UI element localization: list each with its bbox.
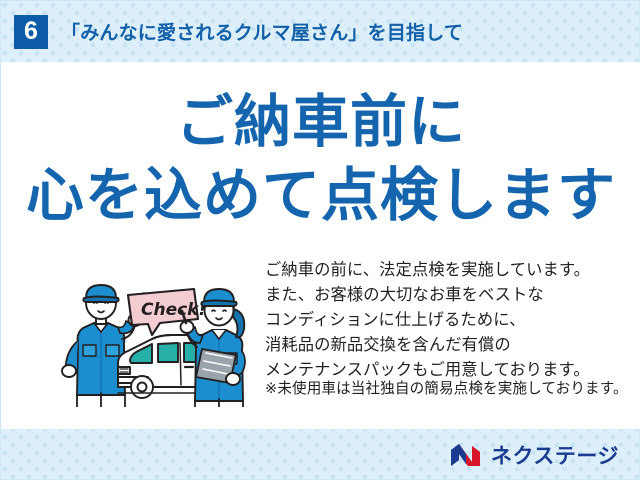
header-title: 「みんなに愛されるクルマ屋さん」を目指して: [61, 18, 463, 45]
header-band: 6 「みんなに愛されるクルマ屋さん」を目指して: [1, 1, 640, 62]
section-number-badge: 6: [14, 15, 48, 49]
headline-line-1: ご納車前に: [1, 94, 640, 151]
nextage-n-mark-icon: [450, 443, 484, 467]
brand-footer: ネクステージ: [1, 429, 640, 481]
body-paragraph: ご納車の前に、法定点検を実施しています。 また、お客様の大切なお車をベストな コ…: [265, 258, 637, 383]
mechanics-illustration-svg: Check!: [56, 267, 261, 407]
headline-line-2: 心を込めて点検します: [1, 167, 640, 225]
mechanics-illustration: Check!: [56, 267, 261, 407]
content-card: ご納車前に 心を込めて点検します: [1, 62, 640, 429]
body-line-2: また、お客様の大切なお車をベストな: [265, 283, 637, 308]
check-bubble-text: Check!: [141, 300, 206, 320]
body-line-3: コンディションに仕上げるために、: [265, 308, 637, 333]
body-note: ※未使用車は当社独自の簡易点検を実施しております。: [265, 380, 640, 399]
promo-banner: 6 「みんなに愛されるクルマ屋さん」を目指して ご納車前に 心を込めて点検します: [0, 0, 640, 480]
brand-name: ネクステージ: [491, 440, 619, 470]
body-line-1: ご納車の前に、法定点検を実施しています。: [265, 258, 637, 283]
body-line-4: 消耗品の新品交換を含んだ有償の: [265, 333, 637, 358]
